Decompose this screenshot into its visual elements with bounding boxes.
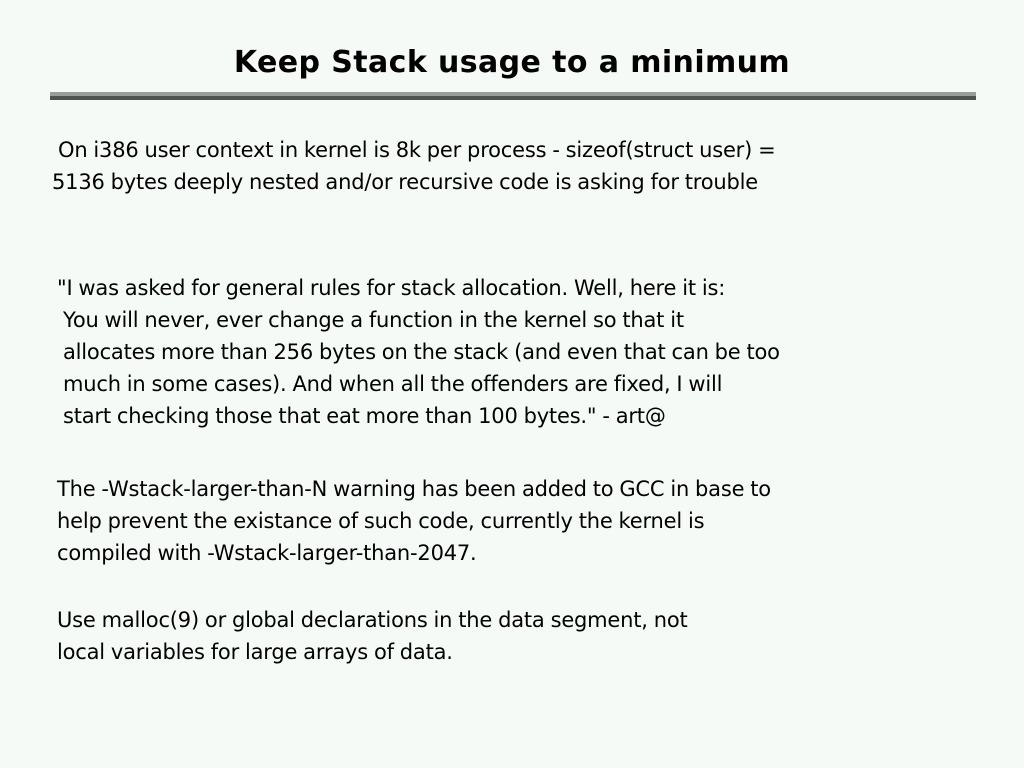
page-title: Keep Stack usage to a minimum (234, 44, 790, 82)
warning-paragraph: The -Wstack-larger-than-N warning has be… (57, 473, 987, 569)
title-divider-shadow (50, 96, 976, 100)
quote-paragraph: "I was asked for general rules for stack… (57, 272, 987, 432)
presentation-slide: Keep Stack usage to a minimum On i386 us… (0, 0, 1024, 768)
intro-paragraph: On i386 user context in kernel is 8k per… (52, 134, 982, 198)
slide-title-area: Keep Stack usage to a minimum (0, 44, 1024, 82)
advice-paragraph: Use malloc(9) or global declarations in … (57, 604, 987, 668)
title-divider (50, 92, 976, 100)
